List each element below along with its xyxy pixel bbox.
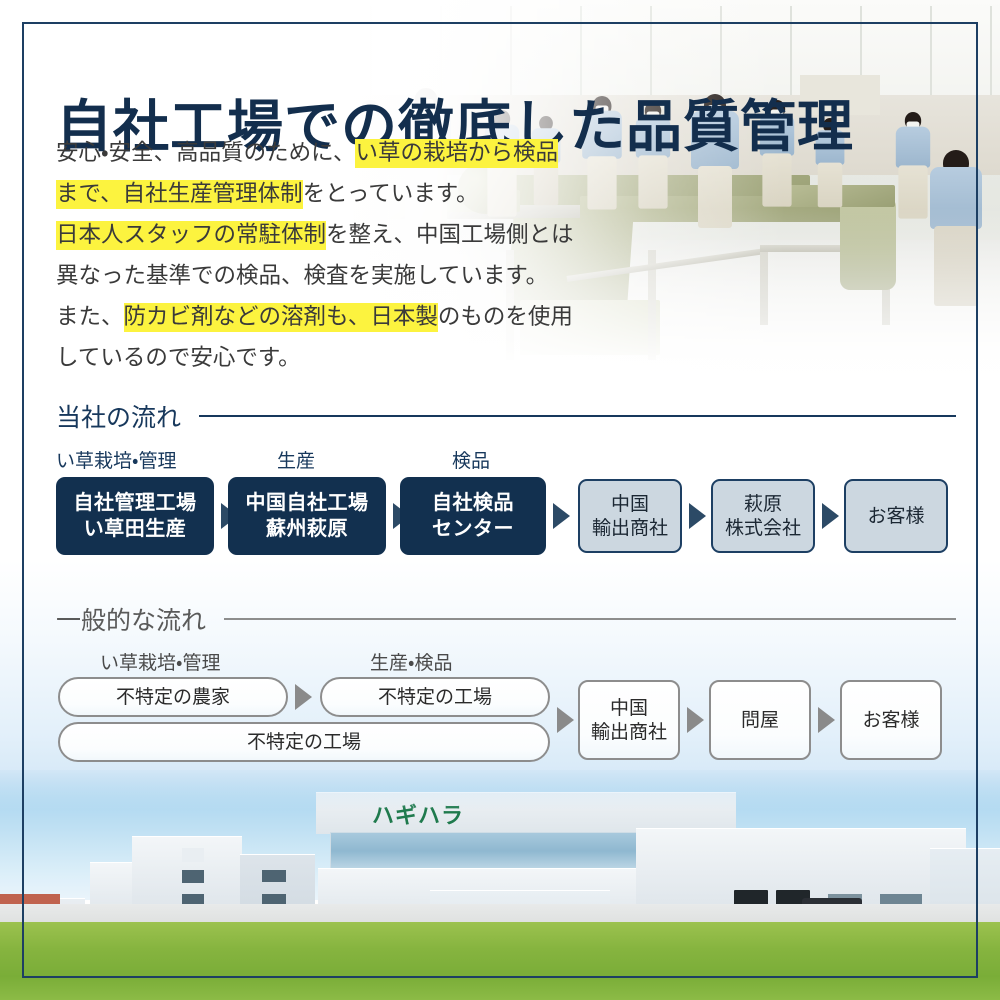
lead-highlight: 日本人スタッフの常駐体制 <box>56 221 326 250</box>
heading-rule <box>224 618 956 620</box>
step-line: 輸出商社 <box>592 516 668 540</box>
our-flow-step-3[interactable]: 中国 輸出商社 <box>578 479 682 553</box>
lead-text: をとっています。 <box>303 181 479 207</box>
our-flow-label-1: 生産 <box>277 446 315 473</box>
step-line: い草田生産 <box>84 516 187 542</box>
our-flow-step-0[interactable]: 自社管理工場 い草田生産 <box>56 477 214 555</box>
flow-arrow <box>818 707 835 733</box>
step-line: 萩原 <box>744 492 782 516</box>
our-flow-heading-text: 当社の流れ <box>56 398 181 434</box>
step-line: お客様 <box>862 708 919 732</box>
step-line: 自社管理工場 <box>74 490 197 516</box>
general-flow-step-farm[interactable]: 不特定の農家 <box>58 677 288 717</box>
general-flow-heading-text: 一般的な流れ <box>56 601 206 637</box>
lead-text: また、 <box>56 304 124 330</box>
lead-text: 安心・安全、高品質のために、 <box>56 140 355 166</box>
our-flow-label-2: 検品 <box>452 446 490 473</box>
flow-arrow <box>553 503 570 529</box>
general-flow-label-1: 生産・検品 <box>370 648 452 675</box>
our-flow-step-4[interactable]: 萩原 株式会社 <box>711 479 815 553</box>
lead-text: のものを使用 <box>438 304 573 330</box>
lead-line-4: また、防カビ剤などの溶剤も、日本製のものを使用 <box>56 297 676 338</box>
general-flow-step-factory-top[interactable]: 不特定の工場 <box>320 677 550 717</box>
lead-text: を整え、中国工場側とは <box>326 222 574 248</box>
lead-line-3: 異なった基準での検品、検査を実施しています。 <box>56 256 676 297</box>
step-line: 蘇州萩原 <box>266 516 348 542</box>
general-flow-step-wholesaler[interactable]: 問屋 <box>709 680 811 760</box>
general-flow-label-0: い草栽培・管理 <box>100 648 220 675</box>
step-line: 自社検品 <box>432 490 514 516</box>
our-flow-step-5[interactable]: お客様 <box>844 479 948 553</box>
content-layer: 自社工場での徹底した品質管理 安心・安全、高品質のために、い草の栽培から検品まで… <box>0 0 1000 1000</box>
step-line: センター <box>432 516 514 542</box>
step-line: 問屋 <box>741 708 779 732</box>
flow-arrow <box>295 684 312 710</box>
lead-highlight: 防カビ剤などの溶剤も、日本製 <box>124 303 438 332</box>
lead-line-1: まで、自社生産管理体制をとっています。 <box>56 174 676 215</box>
lead-highlight: い草の栽培から検品 <box>355 139 558 168</box>
step-line: 株式会社 <box>725 516 801 540</box>
heading-rule <box>199 415 956 417</box>
quality-management-infographic: ハギハラ 自社工場での徹底した品質管理 安心・安全、高品質のために、い草の栽培か… <box>0 0 1000 1000</box>
lead-line-2: 日本人スタッフの常駐体制を整え、中国工場側とは <box>56 215 676 256</box>
lead-text: 異なった基準での検品、検査を実施しています。 <box>56 263 548 289</box>
step-line: 輸出商社 <box>591 720 667 744</box>
flow-arrow <box>822 503 839 529</box>
our-flow-heading: 当社の流れ <box>56 398 956 434</box>
lead-paragraph: 安心・安全、高品質のために、い草の栽培から検品まで、自社生産管理体制をとっていま… <box>56 133 676 379</box>
step-line: 中国 <box>611 492 649 516</box>
general-flow-step-customer[interactable]: お客様 <box>840 680 942 760</box>
step-line: 不特定の工場 <box>378 685 492 709</box>
flow-arrow <box>687 707 704 733</box>
step-line: 不特定の工場 <box>247 730 361 754</box>
lead-line-0: 安心・安全、高品質のために、い草の栽培から検品 <box>56 133 676 174</box>
lead-text: しているので安心です。 <box>56 345 301 371</box>
flow-arrow <box>557 707 574 733</box>
step-line: 中国自社工場 <box>246 490 369 516</box>
step-line: 中国 <box>610 696 648 720</box>
step-line: お客様 <box>867 504 924 528</box>
our-flow-step-2[interactable]: 自社検品 センター <box>400 477 546 555</box>
lead-highlight: まで、自社生産管理体制 <box>56 180 303 209</box>
our-flow-step-1[interactable]: 中国自社工場 蘇州萩原 <box>228 477 386 555</box>
general-flow-heading: 一般的な流れ <box>56 601 956 637</box>
general-flow-step-factory-wide[interactable]: 不特定の工場 <box>58 722 550 762</box>
step-line: 不特定の農家 <box>116 685 230 709</box>
general-flow-step-exporter[interactable]: 中国 輸出商社 <box>578 680 680 760</box>
flow-arrow <box>689 503 706 529</box>
our-flow-label-0: い草栽培・管理 <box>56 446 176 473</box>
lead-line-5: しているので安心です。 <box>56 338 676 379</box>
